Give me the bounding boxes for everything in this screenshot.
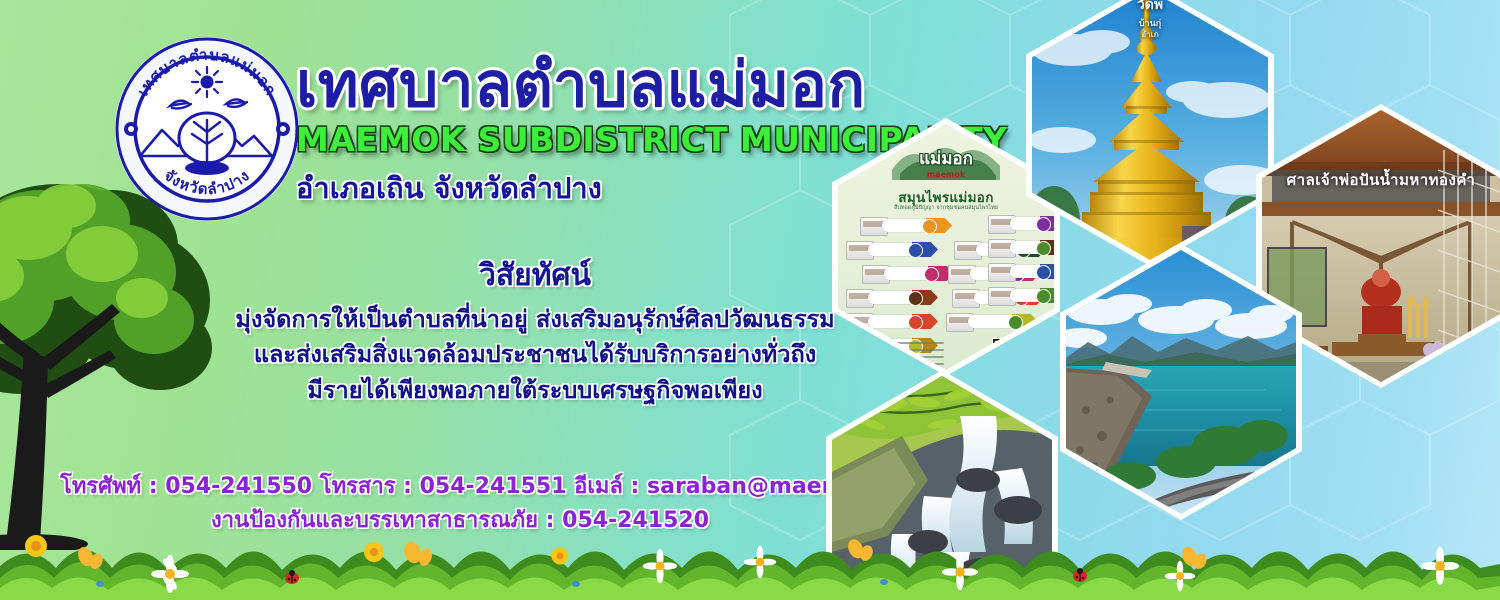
list-item — [988, 238, 1054, 258]
grass-border-decoration — [0, 518, 1500, 600]
list-item — [860, 216, 942, 236]
list-item — [862, 264, 942, 284]
vision-heading: วิสัยทัศน์ — [200, 252, 870, 299]
vision-line-2: และส่งเสริมสิ่งแวดล้อมประชาชนได้รับบริกา… — [200, 337, 870, 372]
poster-subtitle: สืบทอดภูมิปัญญา จากชุมชนคนสมุนไพรไทย — [838, 204, 1054, 212]
vision-line-1: มุ่งจัดการให้เป็นตำบลที่น่าอยู่ ส่งเสริม… — [200, 302, 870, 337]
golden-pagoda-photo[interactable]: วัดพ บ้านกุ่ อำเภ — [1032, 0, 1268, 260]
list-item — [988, 286, 1054, 306]
svg-text:maemok: maemok — [927, 170, 966, 179]
municipality-banner: เทศบาลตำบลแม่มอก จังหวัดลำปาง เทศบาลตำบล… — [0, 0, 1500, 600]
poster-product-grid — [846, 216, 1046, 336]
svg-text:แม่มอก: แม่มอก — [919, 149, 973, 169]
poster-footer — [848, 338, 1044, 364]
vision-line-3: มีรายได้เพียงพอภายใต้ระบบเศรษฐกิจพอเพียง — [200, 373, 870, 408]
tree-decoration — [0, 150, 262, 550]
page-title-thai: เทศบาลตำบลแม่มอก — [296, 52, 976, 118]
page-title-english: MAEMOK SUBDISTRICT MUNICIPALITY — [296, 120, 976, 159]
list-item — [846, 240, 942, 260]
sun-icon — [192, 67, 222, 97]
list-item — [988, 214, 1054, 234]
vision-block: วิสัยทัศน์ มุ่งจัดการให้เป็นตำบลที่น่าอย… — [200, 252, 870, 408]
list-item — [988, 262, 1054, 282]
list-item — [846, 288, 942, 308]
